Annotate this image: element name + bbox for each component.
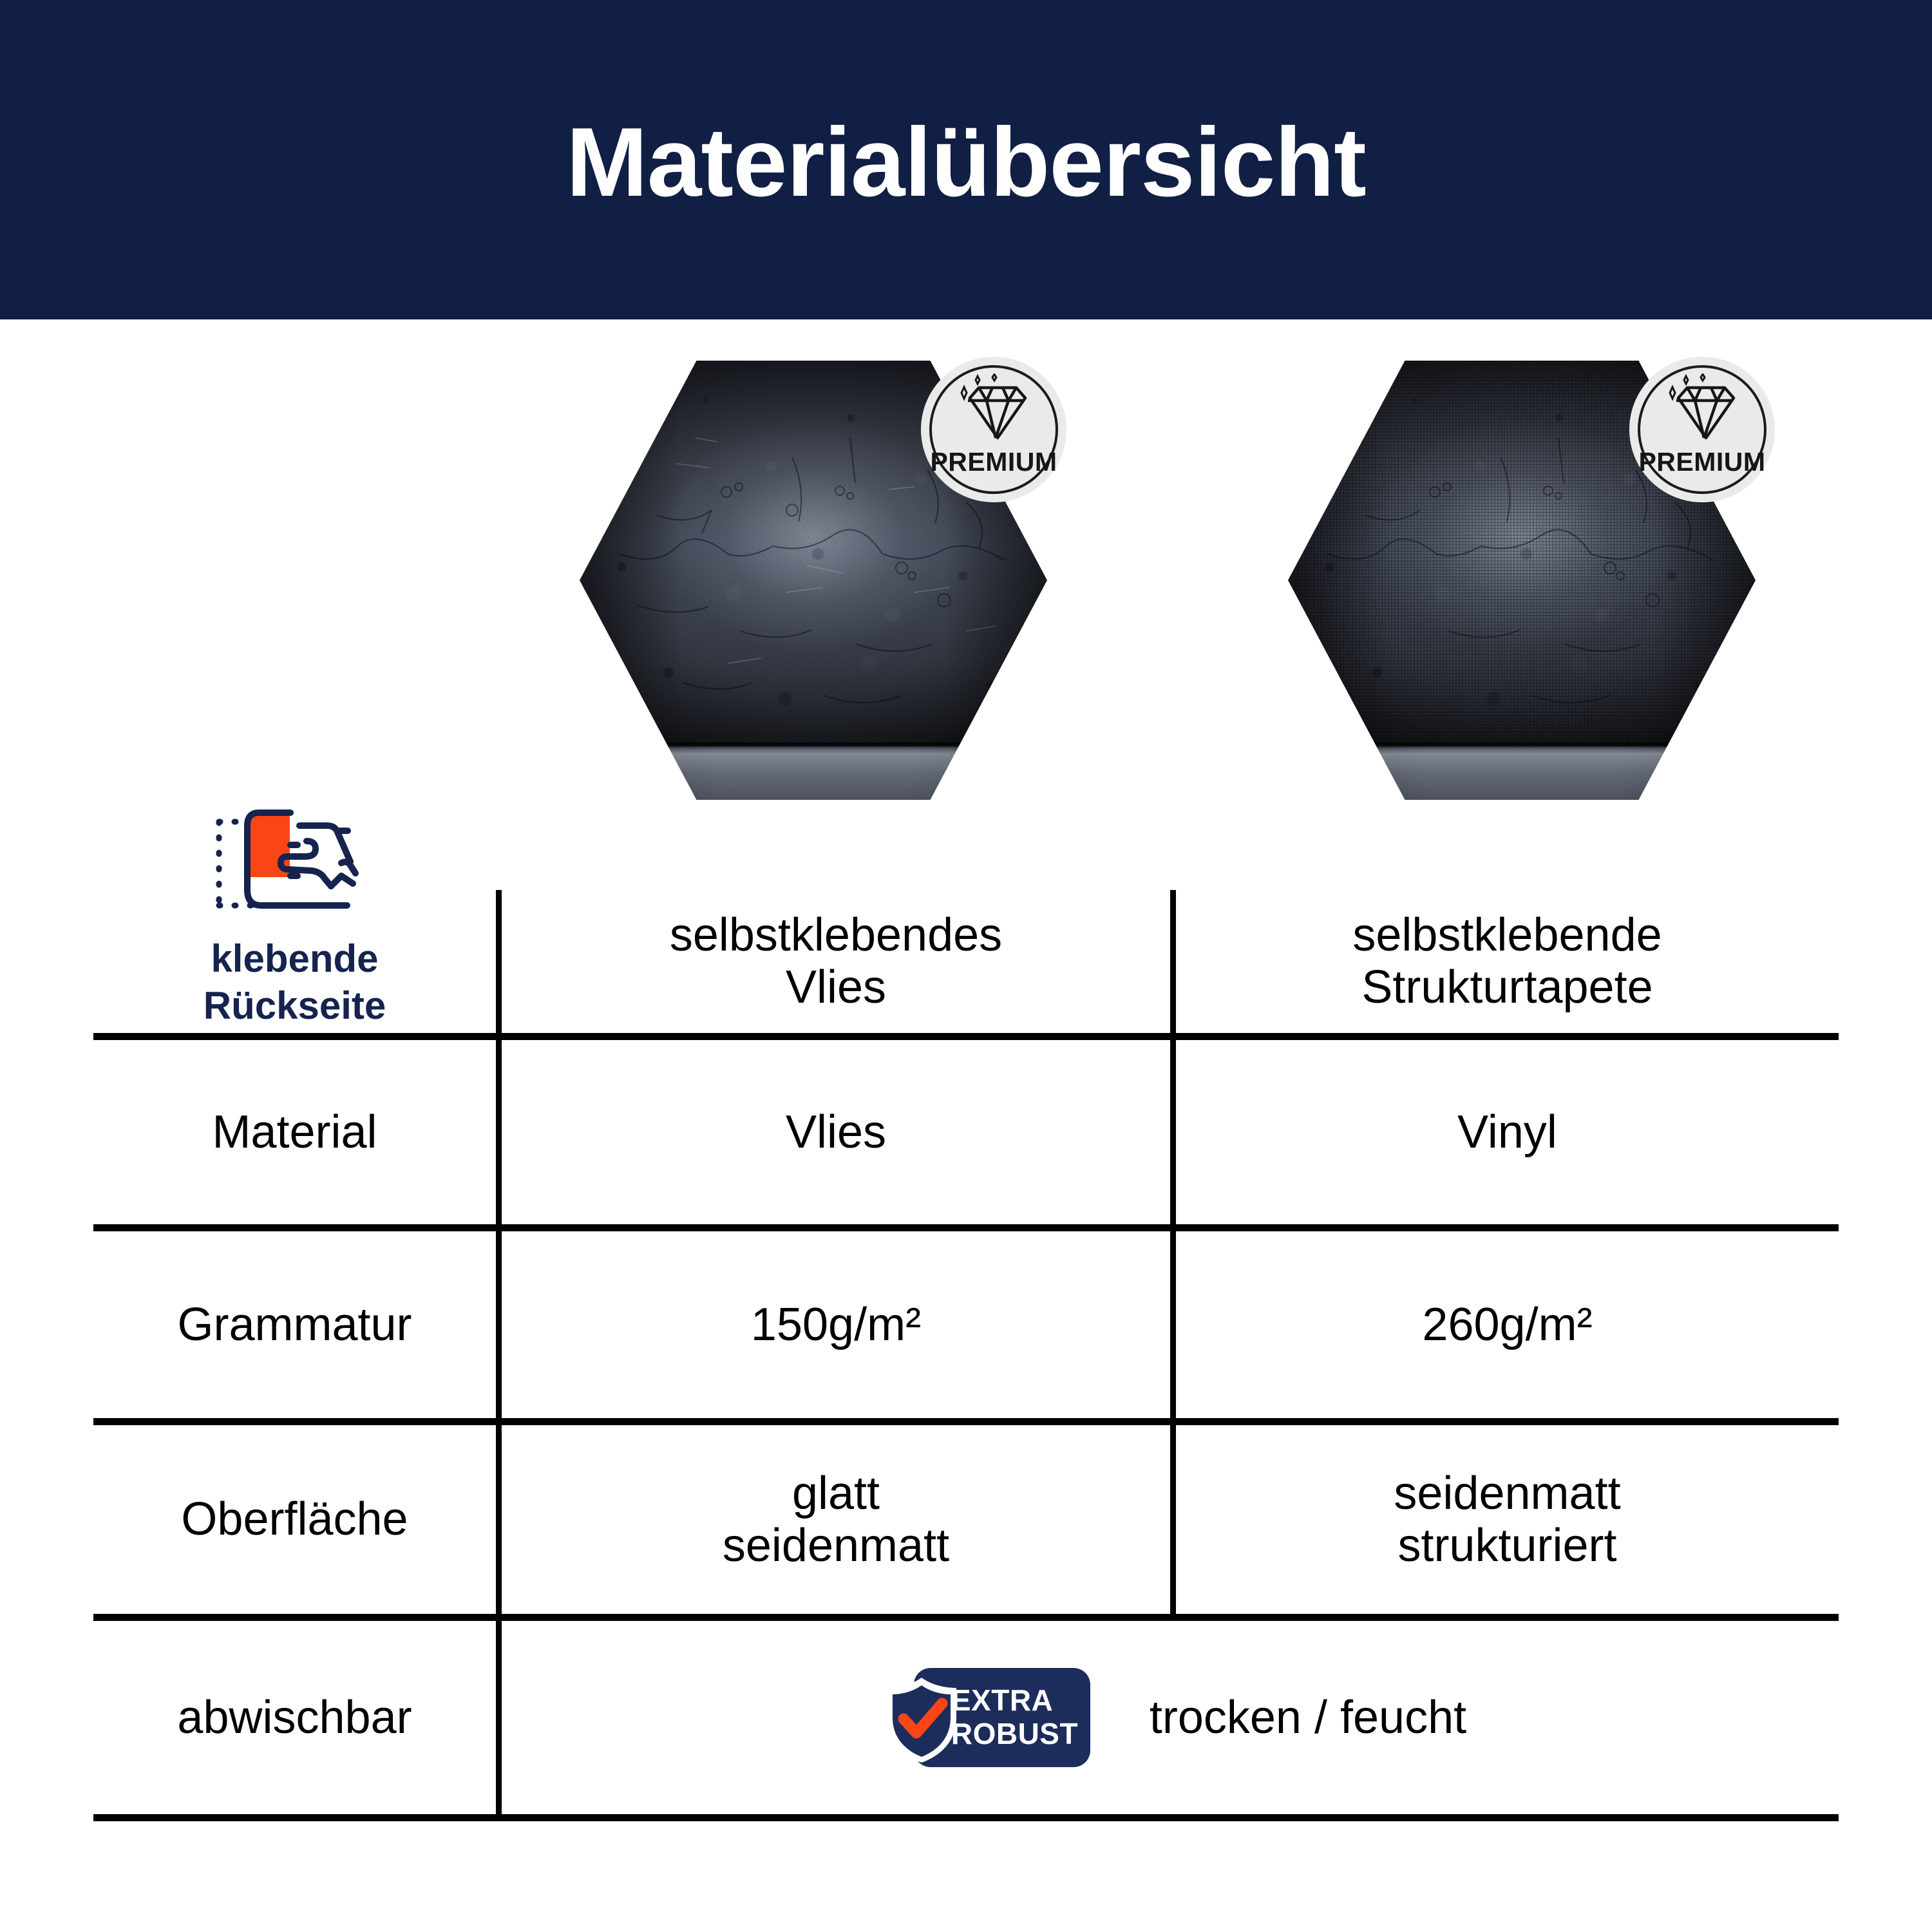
adhesive-backing-cell: klebende Rückseite [93,809,496,1029]
table-rule-5 [93,1814,1839,1821]
column-header-col3: selbstklebende Strukturtapete [1176,890,1839,1033]
table-divider-col2 [1170,890,1176,1620]
row-grammatur-col2: 150g/m² [502,1231,1170,1418]
premium-badge-label: PREMIUM [1629,447,1775,477]
extra-robust-text: EXTRA ROBUST [951,1677,1085,1758]
row-grammatur-col3: 260g/m² [1176,1231,1839,1418]
table-rule-1 [93,1033,1839,1040]
product-thumbnail-row: PREMIUM [0,319,1932,809]
row-oberflaeche-col3: seidenmatt strukturiert [1176,1425,1839,1614]
page-header: Materialübersicht [0,0,1932,319]
row-material-col2: Vlies [502,1040,1170,1224]
premium-badge-label: PREMIUM [921,447,1066,477]
diamond-icon [1665,374,1739,443]
premium-badge: PREMIUM [1629,357,1775,502]
table-rule-4 [93,1614,1839,1621]
diamond-icon [956,374,1031,443]
row-label-material: Material [93,1040,496,1224]
extra-robust-badge: EXTRA ROBUST [880,1668,1090,1767]
abwischbar-value: trocken / feucht [1150,1691,1466,1744]
column-header-col2: selbstklebendes Vlies [502,890,1170,1033]
product-thumbnail-1[interactable]: PREMIUM [580,361,1047,800]
floor-strip [580,746,1047,800]
page-title: Materialübersicht [566,113,1366,211]
table-rule-3 [93,1418,1839,1425]
row-oberflaeche-col2: glatt seidenmatt [502,1425,1170,1614]
wipe-row-content: EXTRA ROBUST trocken / feucht [502,1621,1845,1814]
product-thumbnail-2[interactable]: PREMIUM [1288,361,1756,800]
row-label-abwischbar: abwischbar [93,1621,496,1814]
row-abwischbar-value-cell: EXTRA ROBUST trocken / feucht [502,1621,1839,1814]
material-comparison-table: klebende Rückseite selbstklebendes Vlies… [93,809,1839,1820]
table-divider-col1 [496,890,502,1820]
row-label-grammatur: Grammatur [93,1231,496,1418]
floor-strip [1288,746,1756,800]
shield-check-icon [880,1675,963,1765]
adhesive-backing-label: klebende Rückseite [204,935,386,1029]
row-label-oberflaeche: Oberfläche [93,1425,496,1614]
premium-badge: PREMIUM [921,357,1066,502]
row-material-col3: Vinyl [1176,1040,1839,1224]
table-rule-2 [93,1224,1839,1231]
peeling-sticker-hand-icon [209,809,381,926]
